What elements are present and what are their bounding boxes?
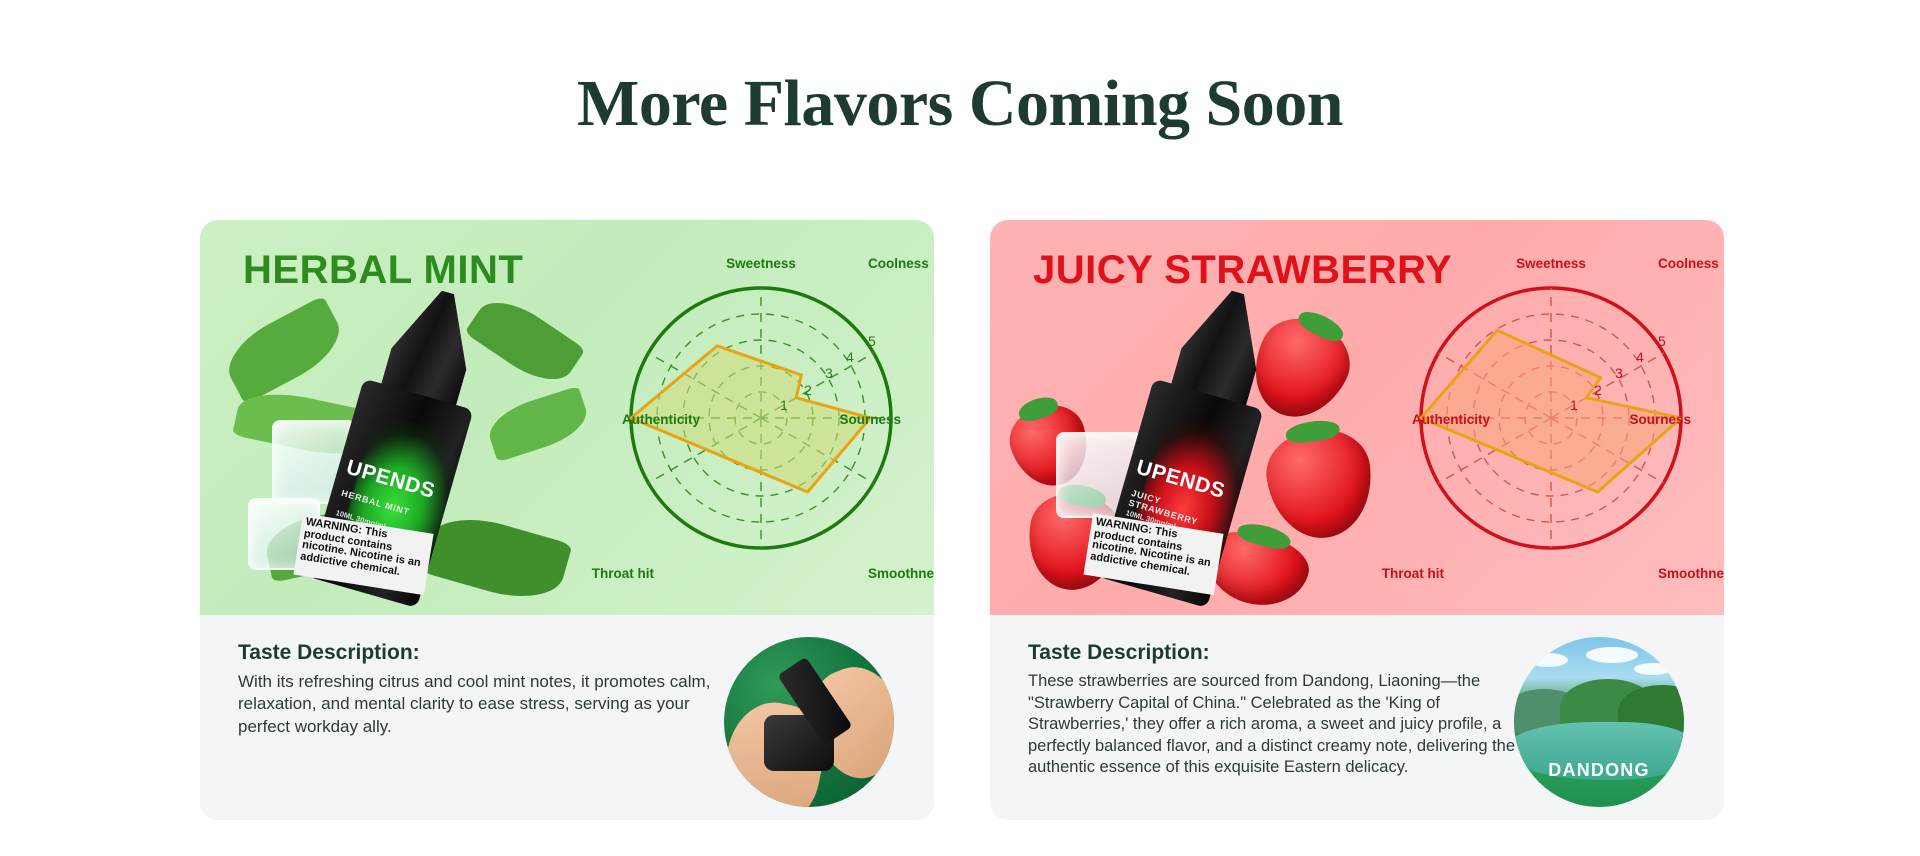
page-root: More Flavors Coming Soon HERBAL MINT [0, 0, 1920, 856]
radar-svg-strawberry: Sweetness Coolness Sourness Smoothness T… [1386, 238, 1716, 598]
svg-text:Smoothness: Smoothness [1658, 566, 1724, 581]
svg-text:Coolness: Coolness [1658, 256, 1719, 271]
page-title: More Flavors Coming Soon [0, 66, 1920, 142]
radar-chart-strawberry: Sweetness Coolness Sourness Smoothness T… [1386, 238, 1716, 598]
product-photo-mint: UPENDS HERBAL MINT 10ML 30mg/ml WARNING:… [220, 280, 590, 610]
svg-text:1: 1 [1570, 397, 1578, 413]
svg-text:Throat hit: Throat hit [1382, 566, 1445, 581]
svg-text:Sourness: Sourness [839, 412, 901, 427]
svg-text:Authenticity: Authenticity [1412, 412, 1490, 427]
flavor-card-juicy-strawberry[interactable]: JUICY STRAWBERRY UPENDS JUICY STRAWBERRY… [990, 220, 1724, 820]
photo-caption-dandong: DANDONG [1514, 760, 1684, 781]
svg-text:1: 1 [780, 397, 788, 413]
svg-text:Sourness: Sourness [1629, 412, 1691, 427]
radar-chart-mint: Sweetness Coolness Sourness Smoothness T… [596, 238, 926, 598]
svg-text:Authenticity: Authenticity [622, 412, 700, 427]
svg-text:2: 2 [1594, 382, 1602, 398]
card-footer-strawberry: Taste Description: These strawberries ar… [990, 615, 1724, 820]
taste-body-strawberry: These strawberries are sourced from Dand… [1028, 671, 1518, 779]
card-hero-strawberry: JUICY STRAWBERRY UPENDS JUICY STRAWBERRY… [990, 220, 1724, 615]
svg-text:Coolness: Coolness [868, 256, 929, 271]
dandong-landscape-photo: DANDONG [1514, 637, 1684, 807]
card-hero-mint: HERBAL MINT UPENDS HERBAL MINT 1 [200, 220, 934, 615]
svg-text:5: 5 [1658, 333, 1666, 349]
radar-svg-mint: Sweetness Coolness Sourness Smoothness T… [596, 238, 926, 598]
svg-text:5: 5 [868, 333, 876, 349]
svg-text:Sweetness: Sweetness [726, 256, 796, 271]
refilling-pod-photo [724, 637, 894, 807]
card-footer-mint: Taste Description: With its refreshing c… [200, 615, 934, 820]
svg-text:3: 3 [1615, 365, 1623, 381]
svg-text:Sweetness: Sweetness [1516, 256, 1586, 271]
product-photo-strawberry: UPENDS JUICY STRAWBERRY 10ML 30mg/ml WAR… [1010, 280, 1380, 610]
taste-body-mint: With its refreshing citrus and cool mint… [238, 671, 718, 738]
svg-text:4: 4 [846, 349, 854, 365]
flavor-card-herbal-mint[interactable]: HERBAL MINT UPENDS HERBAL MINT 1 [200, 220, 934, 820]
svg-text:2: 2 [804, 382, 812, 398]
svg-text:3: 3 [825, 365, 833, 381]
svg-text:Smoothness: Smoothness [868, 566, 934, 581]
svg-text:Throat hit: Throat hit [592, 566, 655, 581]
svg-text:4: 4 [1636, 349, 1644, 365]
